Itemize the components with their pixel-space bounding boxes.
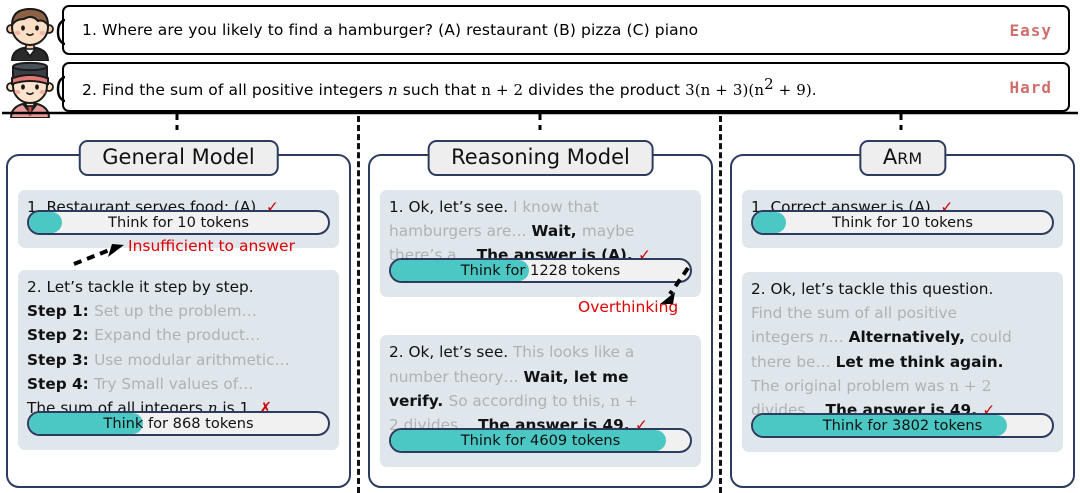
message-line: Find the sum of all positive bbox=[751, 301, 1054, 325]
token-bar-868[interactable]: Think for 868 tokens bbox=[27, 411, 330, 436]
panel-general-model-body: 1. Restaurant serves food: (A). ✓ Think … bbox=[6, 154, 351, 488]
question-2-body-3: divides the product bbox=[523, 81, 685, 99]
token-bar-label: Think for 3802 tokens bbox=[753, 415, 1052, 436]
question-2-number: 2. bbox=[82, 81, 97, 99]
tree-connector bbox=[0, 104, 1080, 130]
message-line: 2. Let’s tackle it step by step. bbox=[27, 275, 330, 299]
question-2-expr-2: 3(n + 3)(n bbox=[685, 81, 764, 99]
message-line: Step 4: Try Small values of… bbox=[27, 372, 330, 396]
message-block-answer-2: 2. Ok, let’s tackle this question. Find … bbox=[742, 272, 1063, 452]
student-boy-avatar bbox=[2, 1, 58, 61]
question-1-number: 1. bbox=[82, 21, 97, 39]
annotation-insufficient: Insufficient to answer bbox=[128, 237, 295, 255]
panel-arm-body: 1. Correct answer is (A). ✓ Think for 10… bbox=[730, 154, 1075, 488]
message-line: hamburgers are… Wait, maybe bbox=[389, 219, 692, 243]
message-block-answer-1: 1. Correct answer is (A). ✓ Think for 10… bbox=[742, 190, 1063, 248]
column-divider-1 bbox=[357, 116, 360, 493]
panel-reasoning-model-body: 1. Ok, let’s see. I know that hamburgers… bbox=[368, 154, 713, 488]
question-1-body: Where are you likely to find a hamburger… bbox=[102, 21, 698, 39]
panel-arm: 1. Correct answer is (A). ✓ Think for 10… bbox=[730, 140, 1075, 488]
question-2-expr-1: n + 2 bbox=[481, 81, 523, 99]
question-2-body-1: Find the sum of all positive integers bbox=[102, 81, 388, 99]
token-bar-label: Think for 10 tokens bbox=[29, 212, 328, 233]
message-line: 2. Ok, let’s tackle this question. bbox=[751, 277, 1054, 301]
token-bar-label: Think for 10 tokens bbox=[753, 212, 1052, 233]
message-line: 1. Ok, let’s see. I know that bbox=[389, 195, 692, 219]
question-2-body-2: such that bbox=[398, 81, 482, 99]
message-line: number theory… Wait, let me bbox=[389, 365, 692, 389]
token-bar-10[interactable]: Think for 10 tokens bbox=[751, 210, 1054, 235]
panel-title-reasoning-model: Reasoning Model bbox=[427, 140, 654, 176]
question-2-var-n: n bbox=[388, 81, 398, 99]
message-line: verify. So according to this, n + bbox=[389, 389, 692, 413]
message-block-answer-2: 2. Ok, let’s see. This looks like a numb… bbox=[380, 335, 701, 467]
question-2-expr-sup: 2 bbox=[764, 75, 774, 93]
question-2-expr-end: + 9). bbox=[774, 81, 817, 99]
token-bar-3802[interactable]: Think for 3802 tokens bbox=[751, 413, 1054, 438]
column-divider-2 bbox=[719, 116, 722, 493]
panel-title-arm: ARM bbox=[859, 140, 946, 176]
question-1-text: 1. Where are you likely to find a hambur… bbox=[82, 21, 999, 39]
message-block-answer-1: 1. Ok, let’s see. I know that hamburgers… bbox=[380, 190, 701, 297]
token-bar-1228[interactable]: Think for 1228 tokens bbox=[389, 258, 692, 283]
message-line: there be… Let me think again. bbox=[751, 350, 1054, 374]
panel-title-general-model: General Model bbox=[78, 140, 279, 176]
message-block-answer-2: 2. Let’s tackle it step by step. Step 1:… bbox=[18, 270, 339, 450]
panel-general-model: 1. Restaurant serves food: (A). ✓ Think … bbox=[6, 140, 351, 488]
token-bar-4609[interactable]: Think for 4609 tokens bbox=[389, 428, 692, 453]
difficulty-badge-easy: Easy bbox=[1009, 21, 1052, 40]
annotation-overthinking: Overthinking bbox=[578, 298, 678, 316]
message-line: The original problem was n + 2 bbox=[751, 374, 1054, 398]
question-2-text: 2. Find the sum of all positive integers… bbox=[82, 75, 999, 99]
message-line: Step 3: Use modular arithmetic… bbox=[27, 348, 330, 372]
token-bar-10[interactable]: Think for 10 tokens bbox=[27, 210, 330, 235]
token-bar-label: Think for 1228 tokens bbox=[391, 260, 690, 281]
token-bar-label: Think for 4609 tokens bbox=[391, 430, 690, 451]
message-line: 2. Ok, let’s see. This looks like a bbox=[389, 340, 692, 364]
message-line: Step 1: Set up the problem… bbox=[27, 299, 330, 323]
message-line: Step 2: Expand the product… bbox=[27, 323, 330, 347]
question-bubble-1: 1. Where are you likely to find a hambur… bbox=[62, 5, 1070, 55]
token-bar-label: Think for 868 tokens bbox=[29, 413, 328, 434]
dashed-arrow-up-right-icon bbox=[72, 242, 128, 268]
question-row-1: 1. Where are you likely to find a hambur… bbox=[0, 5, 1080, 57]
message-line: integers n… Alternatively, could bbox=[751, 325, 1054, 349]
difficulty-badge-hard: Hard bbox=[1009, 78, 1052, 97]
